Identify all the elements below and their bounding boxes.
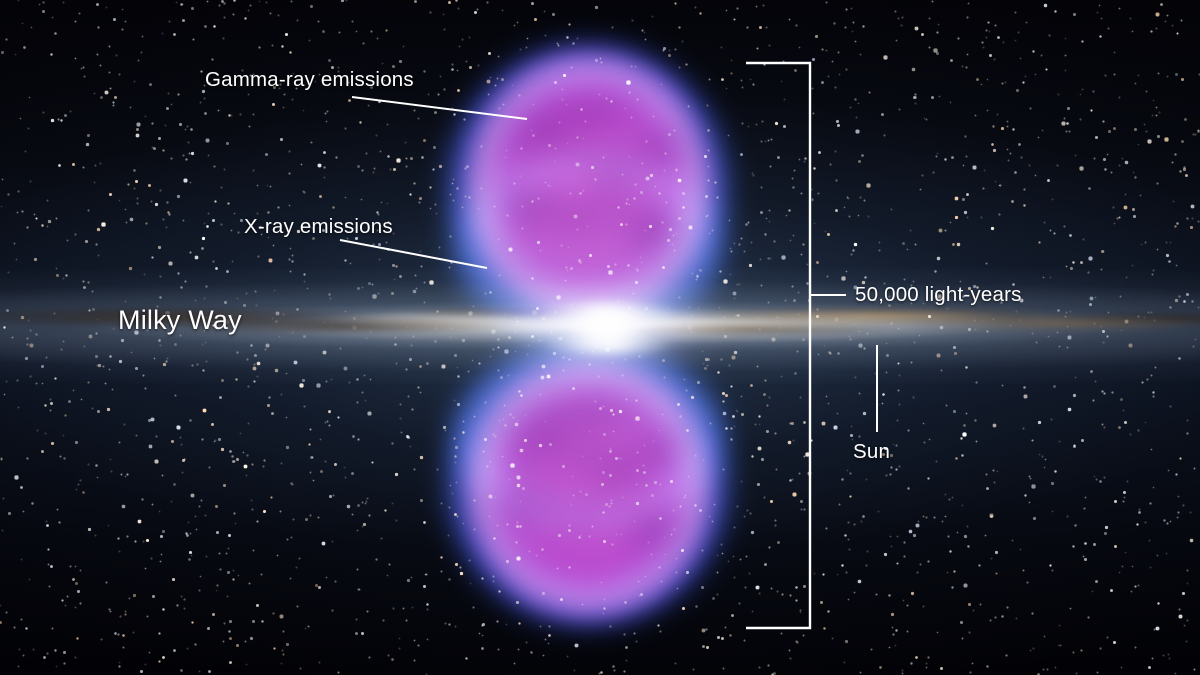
- fermi-bubbles-illustration: Gamma-ray emissions X-ray emissions Milk…: [0, 0, 1200, 675]
- gamma-ray-leader-line: [352, 97, 527, 119]
- scale-bracket: [746, 63, 810, 628]
- annotation-lines: [0, 0, 1200, 675]
- milky-way-label: Milky Way: [118, 305, 242, 336]
- xray-label: X-ray emissions: [244, 215, 393, 239]
- annotation-layer: Gamma-ray emissions X-ray emissions Milk…: [0, 0, 1200, 675]
- gamma-ray-label: Gamma-ray emissions: [205, 68, 414, 92]
- sun-label: Sun: [853, 440, 890, 464]
- xray-leader-line: [340, 240, 487, 268]
- starfield-foreground: [0, 0, 1, 1]
- scale-label: 50,000 light-years: [855, 283, 1022, 307]
